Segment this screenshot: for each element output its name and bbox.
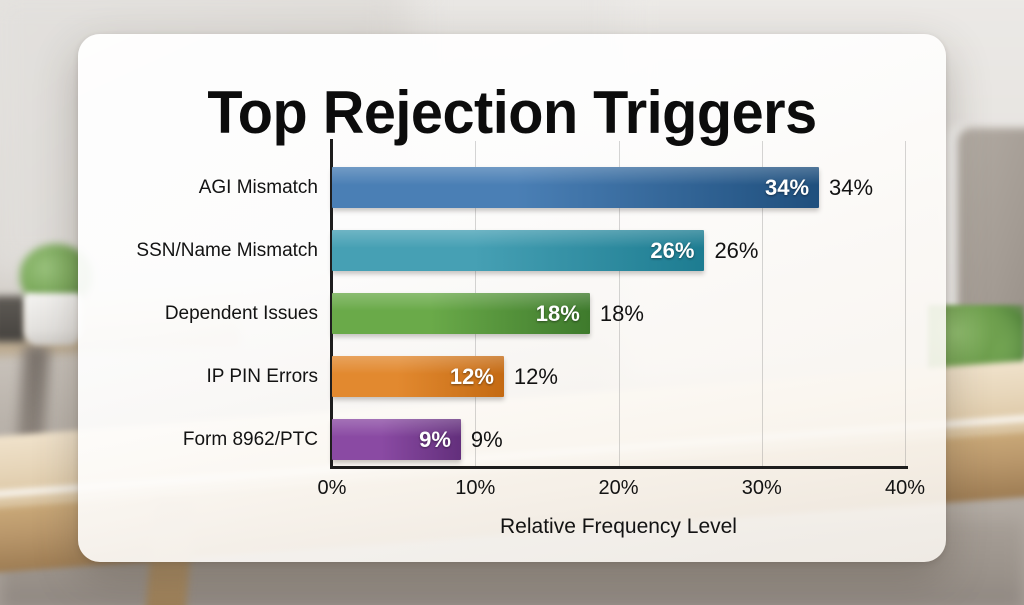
bar-outer-value-label: 34% (829, 175, 873, 201)
bar[interactable]: 12% (332, 356, 504, 397)
gridline (905, 141, 906, 466)
bar[interactable]: 9% (332, 419, 461, 460)
bar-inner-value-label: 18% (536, 301, 580, 327)
chart-title: Top Rejection Triggers (95, 78, 928, 147)
bar-category-label: AGI Mismatch (199, 177, 318, 199)
bar-row: Dependent Issues18%18% (332, 293, 905, 334)
bar[interactable]: 34% (332, 167, 819, 208)
bar-row: SSN/Name Mismatch26%26% (332, 230, 905, 271)
background-pen-cup (0, 296, 26, 342)
x-axis-tick-label: 30% (742, 477, 782, 500)
x-axis-title: Relative Frequency Level (332, 515, 905, 539)
bar-inner-value-label: 26% (650, 238, 694, 264)
bar-inner-value-label: 9% (419, 427, 451, 453)
bar-inner-value-label: 34% (765, 175, 809, 201)
x-axis-tick-label: 0% (318, 477, 347, 500)
bar-row: IP PIN Errors12%12% (332, 356, 905, 397)
bar-outer-value-label: 26% (714, 238, 758, 264)
bar-category-label: Form 8962/PTC (183, 429, 318, 451)
screenshot-stage: Top Rejection Triggers AGI Mismatch34%34… (0, 0, 1024, 605)
bar-outer-value-label: 18% (600, 301, 644, 327)
x-axis-tick-label: 20% (598, 477, 638, 500)
background-plant-left-pot (24, 293, 82, 345)
plot-area: AGI Mismatch34%34%SSN/Name Mismatch26%26… (332, 141, 905, 466)
bar-outer-value-label: 12% (514, 364, 558, 390)
bar-row: Form 8962/PTC9%9% (332, 419, 905, 460)
chart-card: Top Rejection Triggers AGI Mismatch34%34… (78, 34, 946, 562)
bar-category-label: IP PIN Errors (206, 366, 318, 388)
bar-inner-value-label: 12% (450, 364, 494, 390)
bar-category-label: Dependent Issues (165, 303, 318, 325)
x-axis-tick-label: 10% (455, 477, 495, 500)
x-axis-spine (330, 466, 908, 469)
bar[interactable]: 26% (332, 230, 704, 271)
bar[interactable]: 18% (332, 293, 590, 334)
x-axis-tick-label: 40% (885, 477, 925, 500)
bar-category-label: SSN/Name Mismatch (136, 240, 318, 262)
bar-row: AGI Mismatch34%34% (332, 167, 905, 208)
bar-outer-value-label: 9% (471, 427, 503, 453)
